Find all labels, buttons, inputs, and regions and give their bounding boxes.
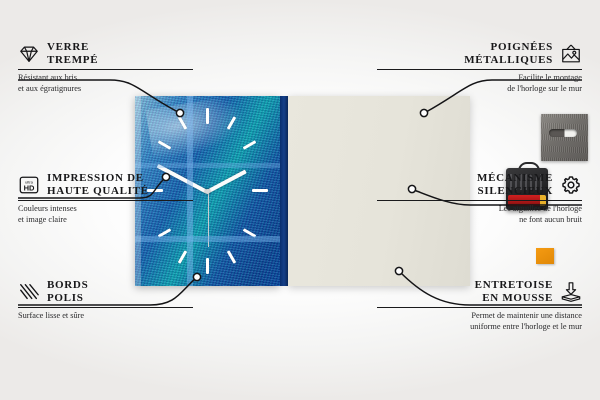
hour-tick-7 [178, 250, 188, 264]
callout-poignees-metalliques: POIGNÉES MÉTALLIQUES Facilite le montage… [377, 41, 582, 94]
infographic-canvas: VERRE TREMPÉ Résistant aux bris et aux é… [0, 0, 600, 400]
callout-divider [377, 307, 582, 308]
hour-tick-12 [206, 108, 209, 124]
callout-desc-line1: Les aiguilles de l'horloge [377, 204, 582, 215]
callout-verre-trempe: VERRE TREMPÉ Résistant aux bris et aux é… [18, 41, 223, 94]
callout-desc-line2: de l'horloge sur le mur [377, 84, 582, 95]
callout-head: POIGNÉES MÉTALLIQUES [377, 41, 582, 66]
hour-tick-10 [158, 140, 172, 150]
callout-entretoise-en-mousse: ENTRETOISE EN MOUSSE Permet de maintenir… [377, 279, 582, 332]
gear-icon [560, 174, 582, 196]
callout-title-line1: POIGNÉES [464, 41, 553, 54]
glass-glare [146, 95, 249, 161]
callout-desc-line2: et image claire [18, 215, 223, 226]
callout-title-line1: ENTRETOISE [475, 279, 553, 292]
callout-mecanisme-silencieux: MÉCANISME SILENCIEUX Les aiguilles de l'… [377, 172, 582, 225]
callout-divider [377, 200, 582, 201]
hour-tick-1 [227, 116, 237, 130]
hour-tick-8 [158, 228, 172, 238]
callout-title-line2: HAUTE QUALITÉ [47, 185, 149, 198]
callout-title-line1: MÉCANISME [477, 172, 553, 185]
svg-text:HD: HD [24, 183, 35, 192]
foam-spacer [536, 248, 554, 264]
callout-desc-line2: uniforme entre l'horloge et le mur [377, 322, 582, 333]
callout-title-line2: MÉTALLIQUES [464, 54, 553, 67]
hour-tick-5 [227, 250, 237, 264]
callout-head: ultra HD IMPRESSION DE HAUTE QUALITÉ [18, 172, 223, 197]
callout-divider [18, 69, 193, 70]
callout-desc-line1: Permet de maintenir une distance [377, 311, 582, 322]
callout-head: VERRE TREMPÉ [18, 41, 223, 66]
clock-panel-edge [280, 96, 288, 286]
ultra-hd-icon: ultra HD [18, 174, 40, 196]
callout-desc-line1: Résistant aux bris [18, 73, 223, 84]
callout-desc-line1: Couleurs intenses [18, 204, 223, 215]
callout-title-line2: EN MOUSSE [475, 292, 553, 305]
callout-title-line1: IMPRESSION DE [47, 172, 149, 185]
diagonal-stripes-icon [18, 281, 40, 303]
callout-title-line2: POLIS [47, 292, 88, 305]
arrow-down-pad-icon [560, 281, 582, 303]
callout-impression-haute-qualite: ultra HD IMPRESSION DE HAUTE QUALITÉ Cou… [18, 172, 223, 225]
callout-title-line1: BORDS [47, 279, 88, 292]
callout-title-line2: SILENCIEUX [477, 185, 553, 198]
hanger-keyhole-slot [549, 129, 577, 137]
diamond-icon [18, 43, 40, 65]
callout-head: ENTRETOISE EN MOUSSE [377, 279, 582, 304]
metal-hanger-plate [541, 114, 588, 161]
callout-divider [377, 69, 582, 70]
callout-desc-line2: ne font aucun bruit [377, 215, 582, 226]
hour-tick-6 [206, 258, 209, 274]
callout-desc-line1: Facilite le montage [377, 73, 582, 84]
callout-divider [18, 200, 193, 201]
callout-divider [18, 307, 193, 308]
hour-tick-3 [252, 189, 268, 192]
callout-title-line1: VERRE [47, 41, 98, 54]
hour-tick-11 [178, 116, 188, 130]
hanging-picture-frame-icon [560, 43, 582, 65]
callout-bords-polis: BORDS POLIS Surface lisse et sûre [18, 279, 223, 322]
hour-tick-4 [243, 228, 257, 238]
hour-tick-2 [243, 140, 257, 150]
callout-desc-line1: Surface lisse et sûre [18, 311, 223, 322]
callout-title-line2: TREMPÉ [47, 54, 98, 67]
callout-head: MÉCANISME SILENCIEUX [377, 172, 582, 197]
callout-desc-line2: et aux égratignures [18, 84, 223, 95]
callout-head: BORDS POLIS [18, 279, 223, 304]
